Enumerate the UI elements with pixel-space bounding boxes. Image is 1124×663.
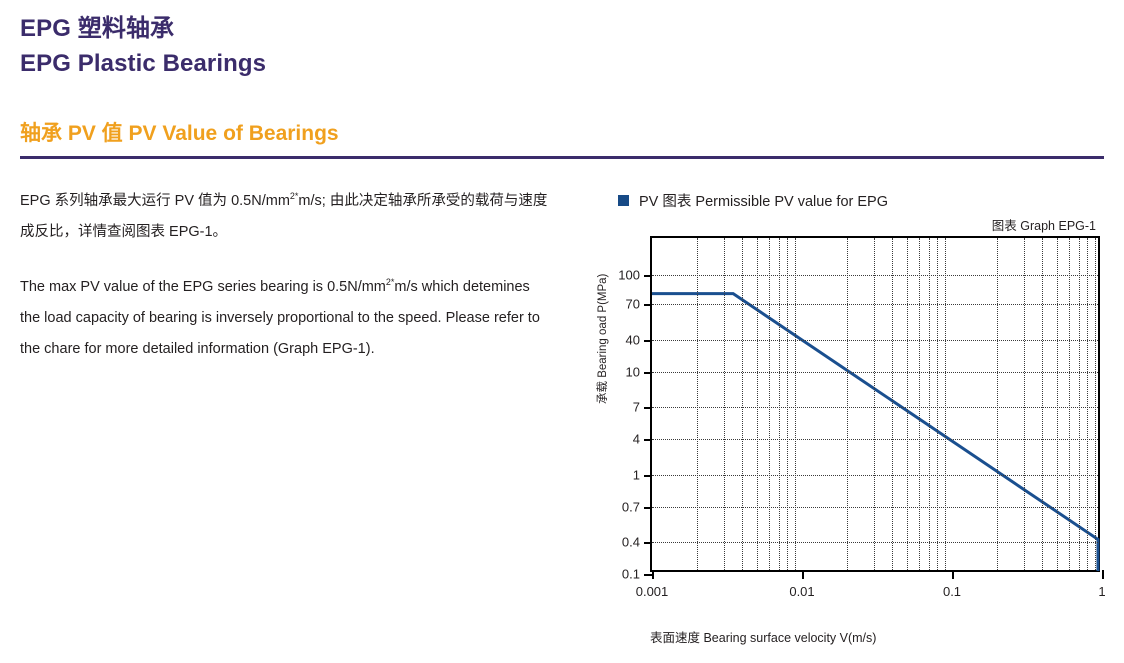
gridline-vertical [945,238,946,570]
page-root: EPG 塑料轴承 EPG Plastic Bearings 轴承 PV 值 PV… [0,0,1124,663]
y-axis-label: 1 [633,467,640,482]
gridline-vertical [769,238,770,570]
x-axis-label: 0.001 [636,584,669,599]
gridline-vertical [874,238,875,570]
x-axis-label: 0.01 [789,584,814,599]
page-title-cn: EPG 塑料轴承 [20,8,174,43]
body-text-column: EPG 系列轴承最大运行 PV 值为 0.5N/mm2*m/s; 由此决定轴承所… [20,186,550,365]
gridline-vertical [892,238,893,570]
gridline-vertical [787,238,788,570]
y-axis-label: 70 [626,296,640,311]
y-axis-label: 0.4 [622,534,640,549]
gridline-vertical [742,238,743,570]
y-axis-tick [644,340,652,342]
graph-reference-label: 图表 Graph EPG-1 [992,215,1096,234]
gridline-horizontal [652,507,1098,508]
gridline-vertical [919,238,920,570]
gridline-vertical [997,238,998,570]
gridline-vertical [757,238,758,570]
paragraph-en-part1: The max PV value of the EPG series beari… [20,279,386,295]
y-axis-label: 0.7 [622,499,640,514]
gridline-vertical [907,238,908,570]
gridline-vertical [724,238,725,570]
x-axis-tick [652,570,654,579]
y-axis-label: 4 [633,431,640,446]
legend-swatch-icon [618,195,629,206]
pv-curve [652,238,1098,571]
gridline-vertical [1057,238,1058,570]
gridline-horizontal [652,439,1098,440]
y-axis-title: 承载 Bearing oad P(MPa) [594,274,610,404]
gridline-vertical [1095,238,1096,570]
gridline-vertical [1079,238,1080,570]
y-axis-tick [644,407,652,409]
y-axis-label: 7 [633,400,640,415]
gridline-vertical [847,238,848,570]
gridline-vertical [1042,238,1043,570]
gridline-horizontal [652,542,1098,543]
gridline-vertical [795,238,796,570]
gridline-horizontal [652,475,1098,476]
gridline-horizontal [652,340,1098,341]
y-axis-tick [644,275,652,277]
plot-area: 1007040107410.70.40.10.0010.010.11 [650,236,1100,572]
x-axis-tick [952,570,954,579]
gridline-vertical [1087,238,1088,570]
gridline-vertical [697,238,698,570]
y-axis-tick [644,439,652,441]
gridline-horizontal [652,304,1098,305]
y-axis-label: 10 [626,365,640,380]
x-axis-title: 表面速度 Bearing surface velocity V(m/s) [650,627,876,646]
x-axis-tick [802,570,804,579]
y-axis-label: 100 [618,267,640,282]
gridline-horizontal [652,407,1098,408]
x-axis-label: 0.1 [943,584,961,599]
y-axis-tick [644,475,652,477]
gridline-vertical [929,238,930,570]
paragraph-cn-part1: EPG 系列轴承最大运行 PV 值为 0.5N/mm [20,193,290,209]
y-axis-tick [644,507,652,509]
paragraph-chinese: EPG 系列轴承最大运行 PV 值为 0.5N/mm2*m/s; 由此决定轴承所… [20,186,550,248]
section-subheading: 轴承 PV 值 PV Value of Bearings [20,117,339,147]
pv-curve-line [652,294,1098,571]
y-axis-tick [644,574,652,576]
chart-block: PV 图表 Permissible PV value for EPG 图表 Gr… [600,186,1110,646]
legend-label: PV 图表 Permissible PV value for EPG [639,190,888,211]
gridline-horizontal [652,372,1098,373]
y-axis-tick [644,542,652,544]
y-axis-label: 40 [626,332,640,347]
y-axis-tick [644,304,652,306]
x-axis-tick [1102,570,1104,579]
header-divider [20,156,1104,159]
gridline-vertical [1024,238,1025,570]
gridline-vertical [1069,238,1070,570]
gridline-vertical [937,238,938,570]
page-title-en: EPG Plastic Bearings [20,50,266,78]
y-axis-label: 0.1 [622,567,640,582]
paragraph-english: The max PV value of the EPG series beari… [20,272,550,365]
gridline-horizontal [652,275,1098,276]
x-axis-label: 1 [1098,584,1105,599]
gridline-vertical [779,238,780,570]
y-axis-tick [644,372,652,374]
chart-legend: PV 图表 Permissible PV value for EPG [618,190,888,211]
